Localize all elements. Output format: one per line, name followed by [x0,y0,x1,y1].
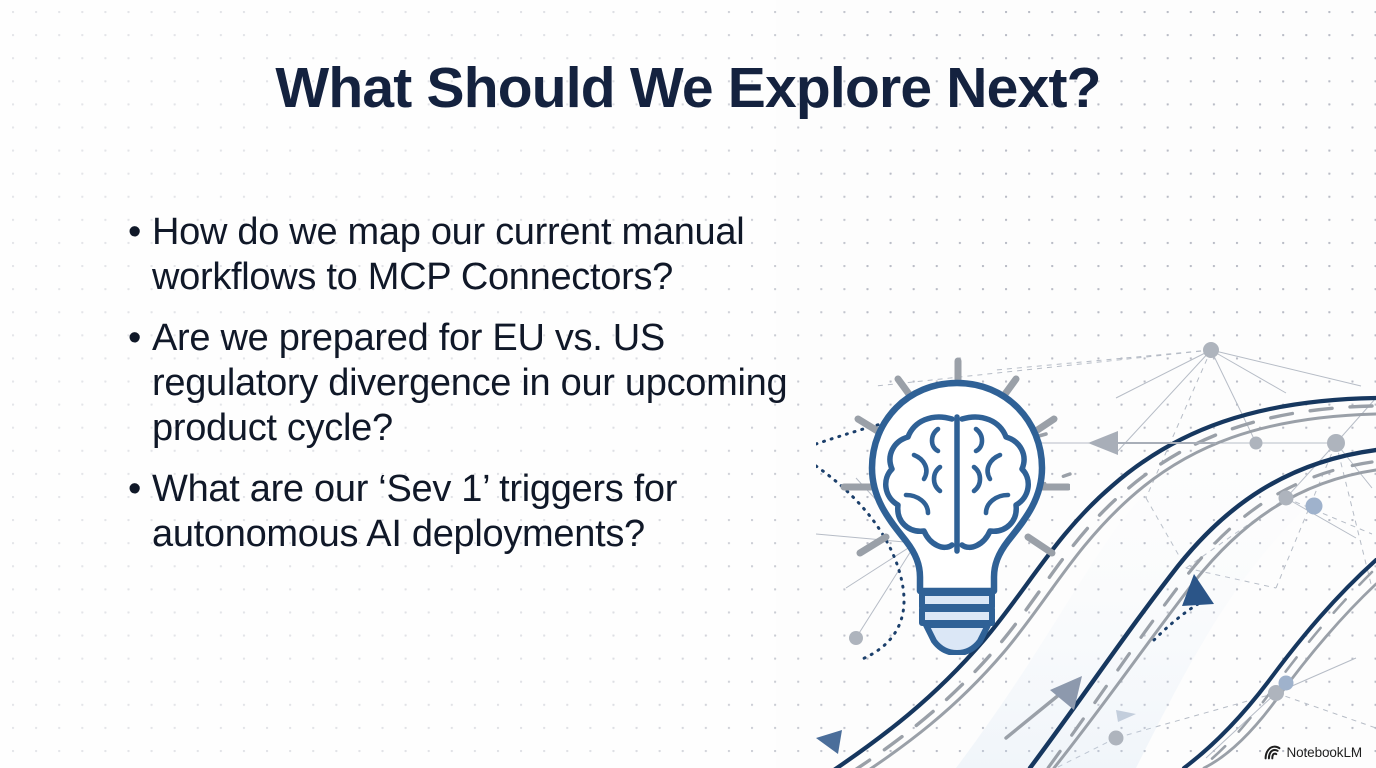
slide-title: What Should We Explore Next? [0,58,1376,120]
bullet-marker-icon: • [128,210,152,255]
bullet-text: Are we prepared for EU vs. US regulatory… [152,316,828,451]
bullet-text: How do we map our current manual workflo… [152,210,828,300]
winding-road-icon [816,338,1376,768]
slide-canvas: What Should We Explore Next? • How do we… [0,0,1376,768]
notebooklm-watermark: NotebookLM [1264,745,1362,760]
list-item: • Are we prepared for EU vs. US regulato… [128,316,828,451]
watermark-label: NotebookLM [1286,746,1362,760]
list-item: • What are our ‘Sev 1’ triggers for auto… [128,467,828,557]
notebooklm-logo-icon [1264,745,1281,760]
bullet-marker-icon: • [128,316,152,361]
bullet-text: What are our ‘Sev 1’ triggers for autono… [152,467,828,557]
list-item: • How do we map our current manual workf… [128,210,828,300]
bullet-marker-icon: • [128,467,152,512]
bullet-list: • How do we map our current manual workf… [128,210,828,573]
lightbulb-brain-icon [840,355,1070,655]
